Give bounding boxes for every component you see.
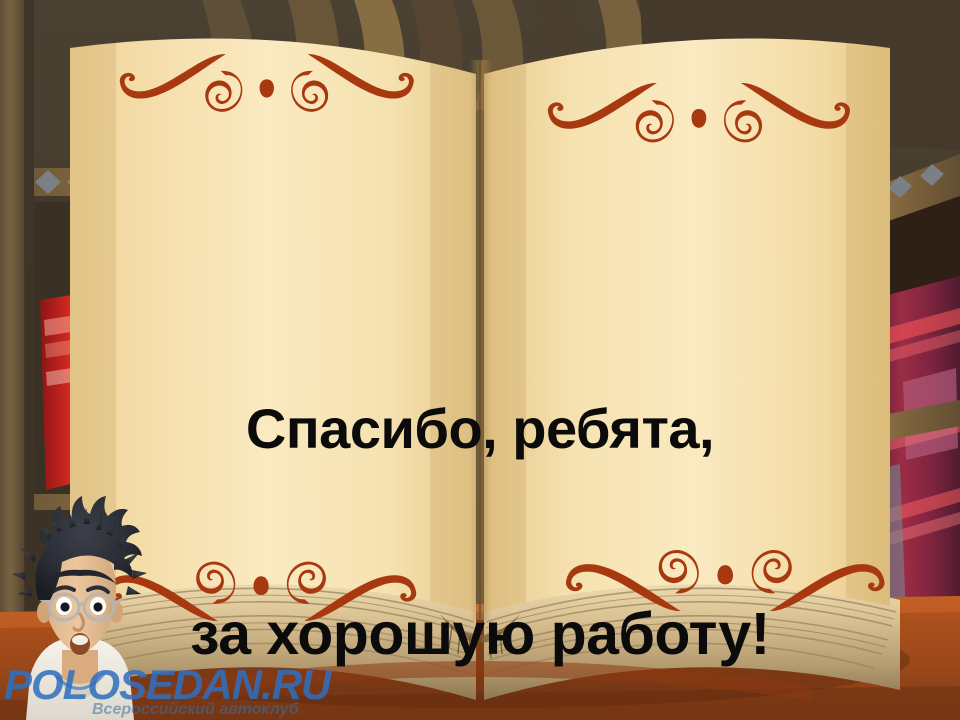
slide-canvas: Спасибо, ребята, за хорошую работу!: [0, 0, 960, 720]
cartoon-boy: [0, 0, 960, 720]
